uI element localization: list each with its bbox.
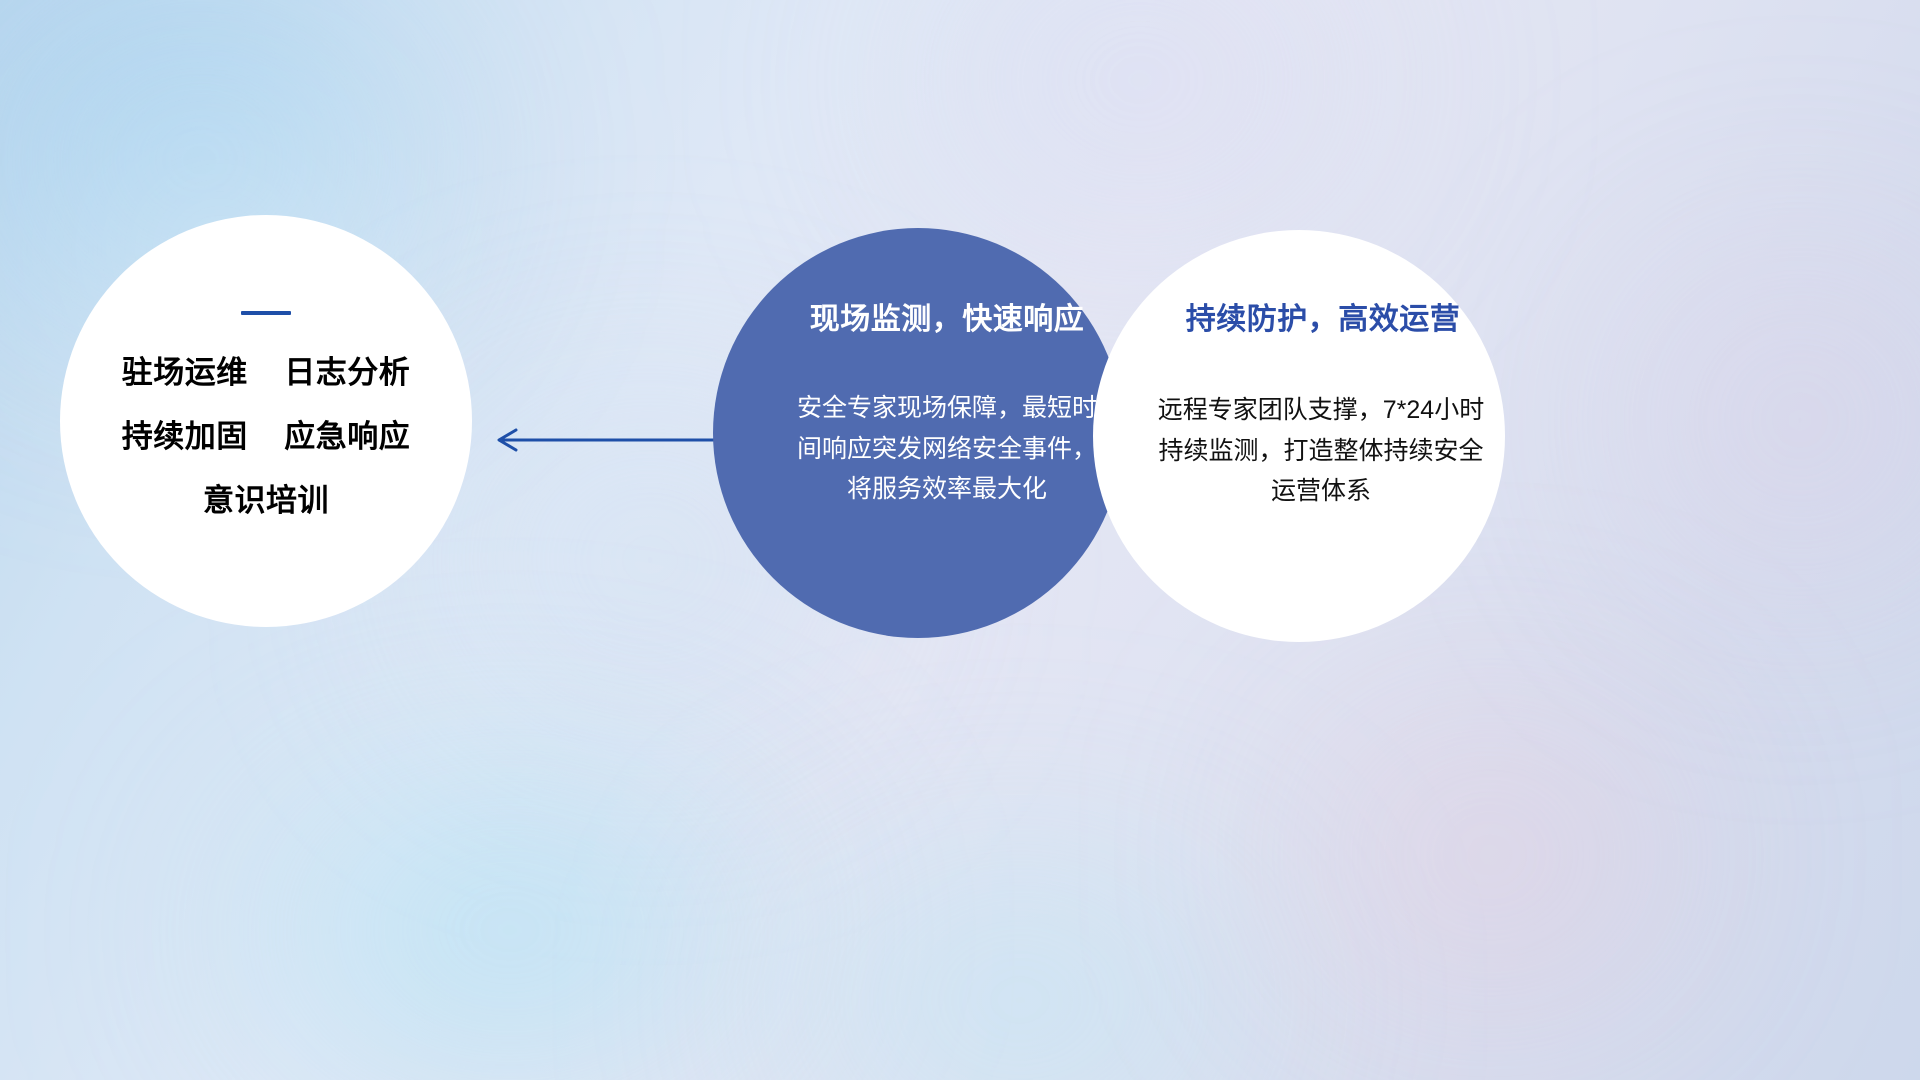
left-arrow-connector [488,412,714,468]
slide-canvas: 驻场运维 日志分析 持续加固 应急响应 意识培训 现场监测，快速响应 安全专家现… [0,0,1920,1080]
right-circle-body: 远程专家团队支撑，7*24小时持续监测，打造整体持续安全运营体系 [1151,390,1491,512]
middle-onsite-circle[interactable]: 现场监测，快速响应 安全专家现场保障，最短时间响应突发网络安全事件，将服务效率最… [713,228,1123,638]
left-circle-line-3: 意识培训 [203,485,329,516]
left-circle-content: 驻场运维 日志分析 持续加固 应急响应 意识培训 [60,215,472,627]
left-circle-line-2: 持续加固 应急响应 [122,421,410,452]
middle-circle-title: 现场监测，快速响应 [810,294,1085,338]
left-circle-divider [241,311,291,315]
right-operations-circle[interactable]: 持续防护，高效运营 远程专家团队支撑，7*24小时持续监测，打造整体持续安全运营… [1093,230,1505,642]
right-circle-title: 持续防护，高效运营 [1186,294,1461,338]
left-circle-line-1: 驻场运维 日志分析 [122,357,410,388]
right-circle-content: 持续防护，高效运营 远程专家团队支撑，7*24小时持续监测，打造整体持续安全运营… [1093,230,1505,642]
middle-circle-body: 安全专家现场保障，最短时间响应突发网络安全事件，将服务效率最大化 [797,388,1097,510]
left-capability-circle[interactable]: 驻场运维 日志分析 持续加固 应急响应 意识培训 [60,215,472,627]
middle-circle-content: 现场监测，快速响应 安全专家现场保障，最短时间响应突发网络安全事件，将服务效率最… [713,228,1123,638]
